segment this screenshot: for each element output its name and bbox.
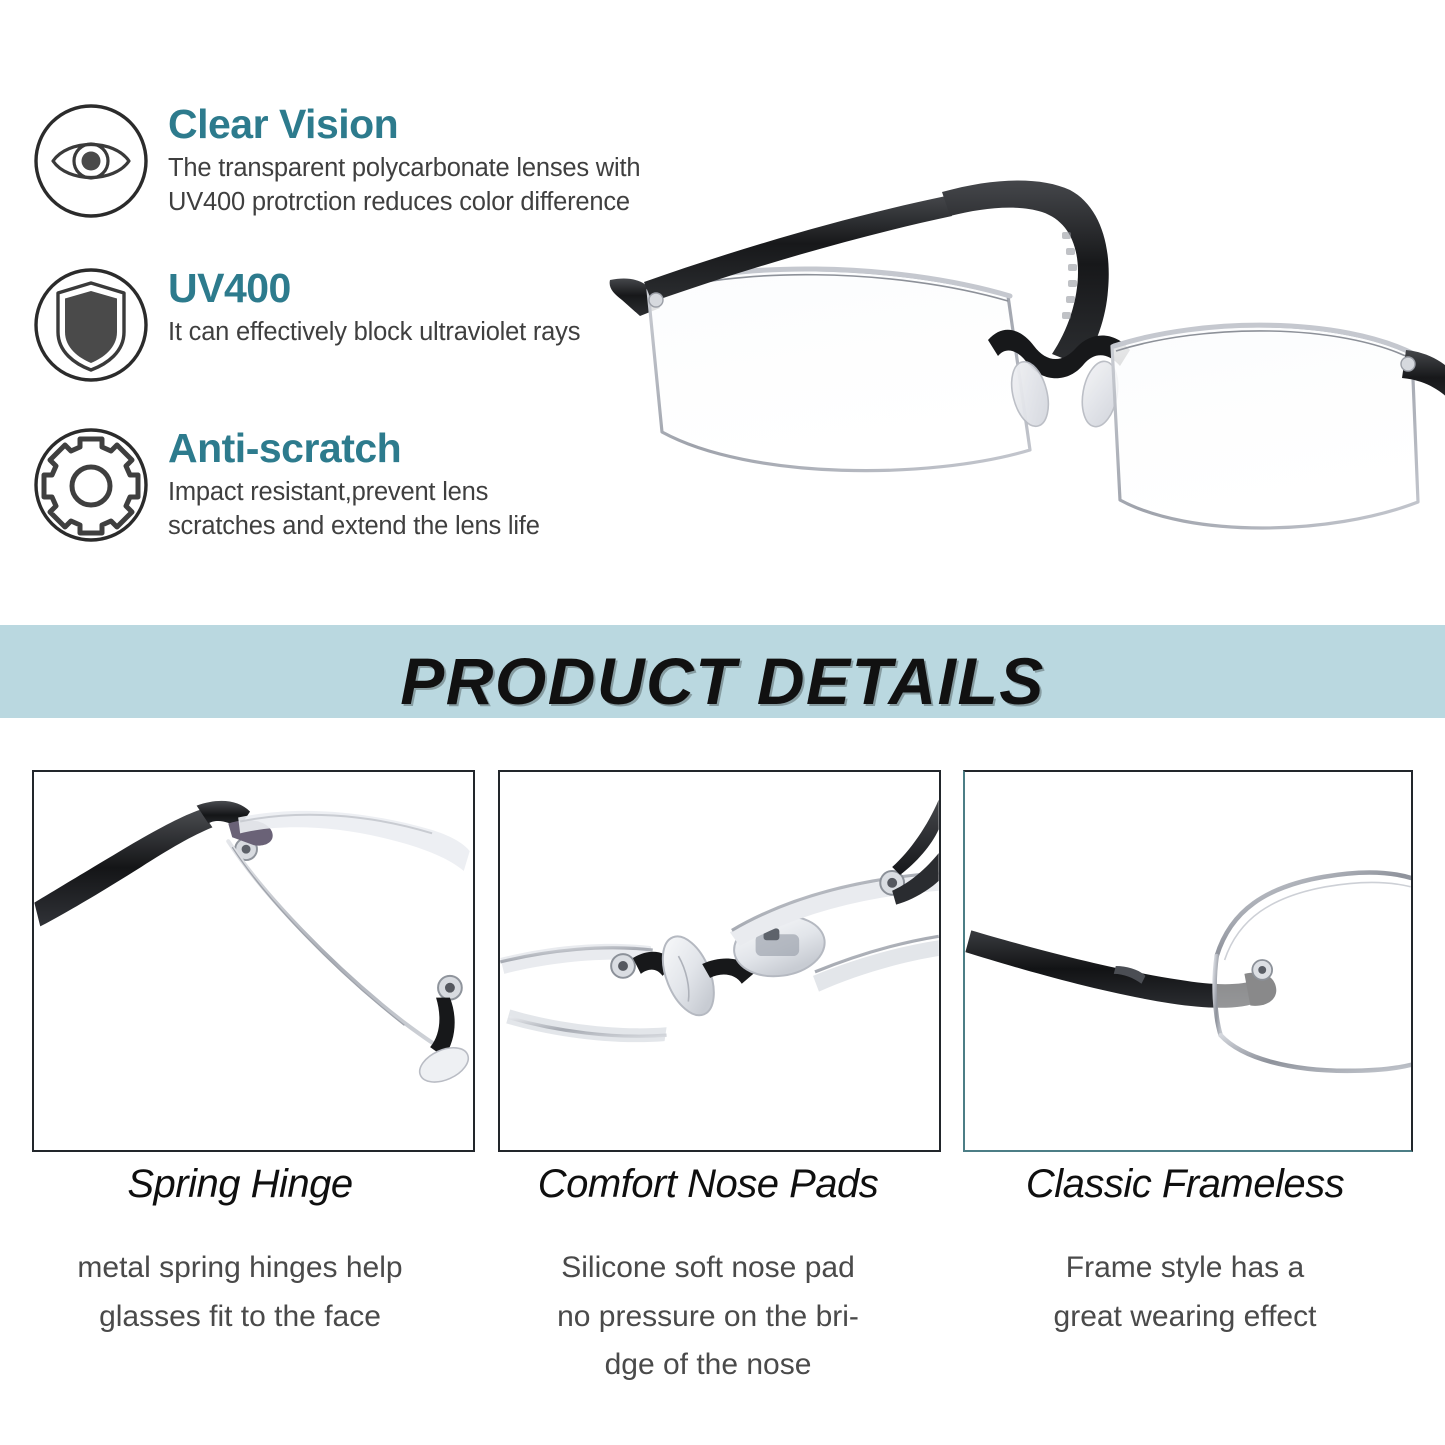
detail-photo-panels (0, 770, 1445, 1160)
feature-line: UV400 protrction reduces color differenc… (168, 186, 640, 220)
feature-text: Anti-scratch Impact resistant,prevent le… (154, 422, 540, 544)
feature-title: Clear Vision (168, 104, 640, 145)
rimless-eyeglasses-photo (600, 150, 1445, 600)
feature-line: scratches and extend the lens life (168, 510, 540, 544)
features-section: Clear Vision The transparent polycarbona… (0, 0, 1445, 622)
frameless-profile-photo (963, 770, 1413, 1152)
caption-title: Spring Hinge (5, 1162, 475, 1206)
caption-title: Comfort Nose Pads (473, 1162, 943, 1206)
caption-title: Classic Frameless (950, 1162, 1420, 1206)
caption-line: glasses fit to the face (5, 1293, 475, 1342)
nose-pads-photo (498, 770, 941, 1152)
caption-line: Silicone soft nose pad (473, 1244, 943, 1293)
gear-icon (28, 422, 154, 548)
feature-line: Impact resistant,prevent lens (168, 476, 540, 510)
caption-line: no pressure on the bri- (473, 1293, 943, 1342)
detail-captions: Spring Hinge metal spring hinges help gl… (0, 1162, 1445, 1445)
caption-classic-frameless: Classic Frameless Frame style has a grea… (950, 1162, 1420, 1341)
caption-comfort-nose-pads: Comfort Nose Pads Silicone soft nose pad… (473, 1162, 943, 1390)
caption-line: great wearing effect (950, 1293, 1420, 1342)
feature-item-anti-scratch: Anti-scratch Impact resistant,prevent le… (28, 422, 540, 548)
feature-item-clear-vision: Clear Vision The transparent polycarbona… (28, 98, 640, 224)
feature-text: UV400 It can effectively block ultraviol… (154, 262, 580, 350)
product-infographic: Clear Vision The transparent polycarbona… (0, 0, 1445, 1445)
feature-text: Clear Vision The transparent polycarbona… (154, 98, 640, 220)
caption-line: Frame style has a (950, 1244, 1420, 1293)
caption-spring-hinge: Spring Hinge metal spring hinges help gl… (5, 1162, 475, 1341)
feature-title: Anti-scratch (168, 428, 540, 469)
feature-line: It can effectively block ultraviolet ray… (168, 316, 580, 350)
spring-hinge-photo (32, 770, 475, 1152)
feature-item-uv400: UV400 It can effectively block ultraviol… (28, 262, 580, 388)
caption-line: dge of the nose (473, 1341, 943, 1390)
shield-icon (28, 262, 154, 388)
caption-line: metal spring hinges help (5, 1244, 475, 1293)
banner-title: PRODUCT DETAILS (0, 648, 1445, 714)
feature-line: The transparent polycarbonate lenses wit… (168, 152, 640, 186)
feature-title: UV400 (168, 268, 580, 309)
eye-icon (28, 98, 154, 224)
